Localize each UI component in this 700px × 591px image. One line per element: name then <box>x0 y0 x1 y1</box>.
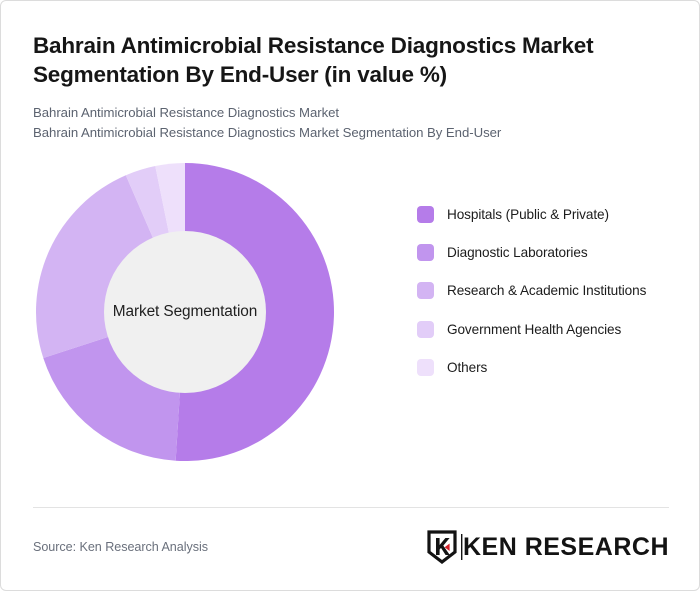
donut-chart-svg <box>34 161 336 463</box>
legend-item-label: Others <box>447 358 487 377</box>
brand-wordmark: KEN RESEARCH <box>463 535 669 560</box>
chart-legend: Hospitals (Public & Private)Diagnostic L… <box>417 205 699 377</box>
legend-swatch-icon <box>417 321 434 338</box>
footer-divider <box>33 507 669 508</box>
source-text: Source: Ken Research Analysis <box>33 540 208 554</box>
legend-item[interactable]: Others <box>417 358 699 377</box>
legend-item-label: Hospitals (Public & Private) <box>447 205 609 224</box>
legend-item-label: Research & Academic Institutions <box>447 281 646 300</box>
brand-logo: KEN RESEARCH <box>427 530 669 564</box>
legend-item[interactable]: Government Health Agencies <box>417 320 699 339</box>
donut-chart: Market Segmentation <box>34 161 336 463</box>
legend-item[interactable]: Research & Academic Institutions <box>417 281 699 300</box>
legend-item[interactable]: Hospitals (Public & Private) <box>417 205 699 224</box>
chart-footer: Source: Ken Research Analysis KEN RESEAR… <box>33 527 669 567</box>
legend-item-label: Diagnostic Laboratories <box>447 243 588 262</box>
chart-card-inner: Bahrain Antimicrobial Resistance Diagnos… <box>1 1 700 591</box>
legend-swatch-icon <box>417 244 434 261</box>
legend-swatch-icon <box>417 282 434 299</box>
ken-research-mark-icon <box>427 530 457 564</box>
chart-area: Market Segmentation Hospitals (Public & … <box>33 153 669 483</box>
legend-item[interactable]: Diagnostic Laboratories <box>417 243 699 262</box>
subtitle-line-market: Bahrain Antimicrobial Resistance Diagnos… <box>33 103 669 123</box>
legend-swatch-icon <box>417 359 434 376</box>
subtitle-line-segmentation: Bahrain Antimicrobial Resistance Diagnos… <box>33 123 669 143</box>
legend-item-label: Government Health Agencies <box>447 320 621 339</box>
legend-swatch-icon <box>417 206 434 223</box>
donut-hole <box>104 231 266 393</box>
subtitle-block: Bahrain Antimicrobial Resistance Diagnos… <box>33 103 669 143</box>
page-title: Bahrain Antimicrobial Resistance Diagnos… <box>33 1 669 90</box>
chart-card: Bahrain Antimicrobial Resistance Diagnos… <box>0 0 700 591</box>
